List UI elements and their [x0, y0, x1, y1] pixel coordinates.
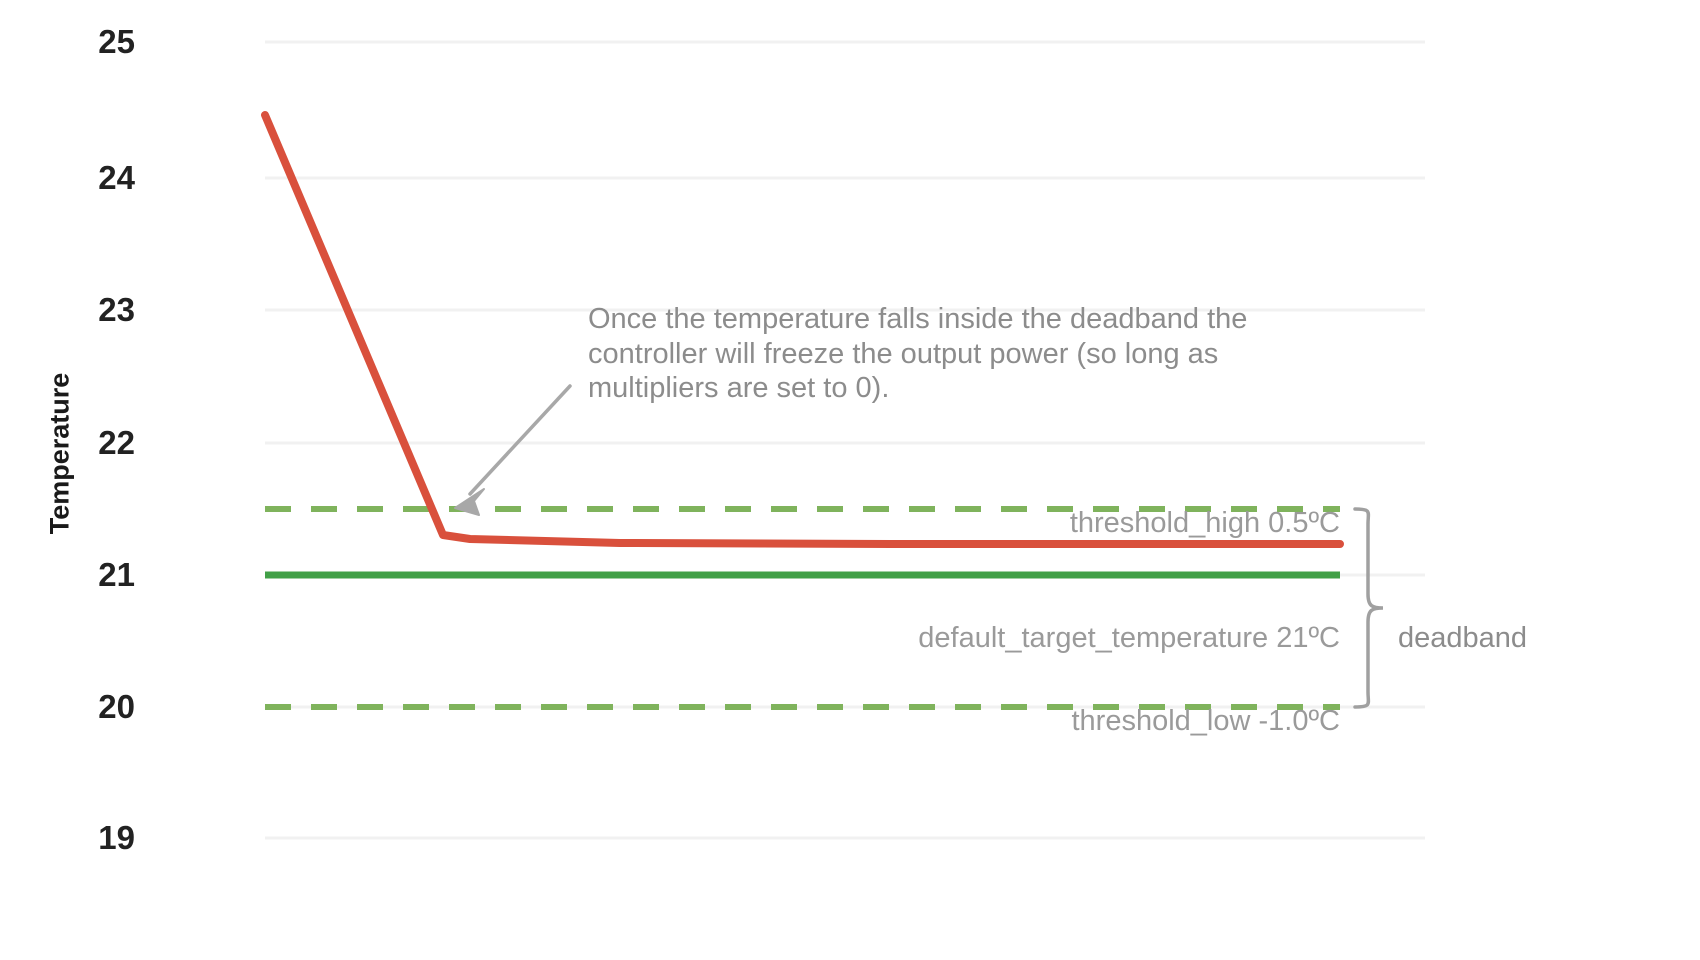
y-tick-23: 23	[55, 293, 135, 326]
threshold-low-label: threshold_low -1.0ºC	[740, 705, 1340, 738]
y-tick-24: 24	[55, 161, 135, 194]
deadband-annotation: Once the temperature falls inside the de…	[588, 302, 1247, 406]
annotation-arrow-shaft	[470, 386, 570, 494]
threshold-high-label: threshold_high 0.5ºC	[740, 507, 1340, 540]
annotation-arrow	[455, 386, 570, 515]
chart-canvas	[0, 0, 1700, 960]
y-tick-20: 20	[55, 690, 135, 723]
y-tick-22: 22	[55, 426, 135, 459]
deadband-label: deadband	[1398, 622, 1527, 655]
deadband-brace	[1355, 509, 1383, 707]
default-target-temperature-label: default_target_temperature 21ºC	[640, 622, 1340, 655]
y-tick-19: 19	[55, 821, 135, 854]
temperature-deadband-chart: Temperature 25 24 23 22 21 20 19 Once th…	[0, 0, 1700, 960]
annotation-line-2: controller will freeze the output power …	[588, 337, 1247, 372]
y-tick-25: 25	[55, 25, 135, 58]
y-tick-21: 21	[55, 558, 135, 591]
annotation-line-1: Once the temperature falls inside the de…	[588, 302, 1247, 337]
annotation-line-3: multipliers are set to 0).	[588, 371, 1247, 406]
